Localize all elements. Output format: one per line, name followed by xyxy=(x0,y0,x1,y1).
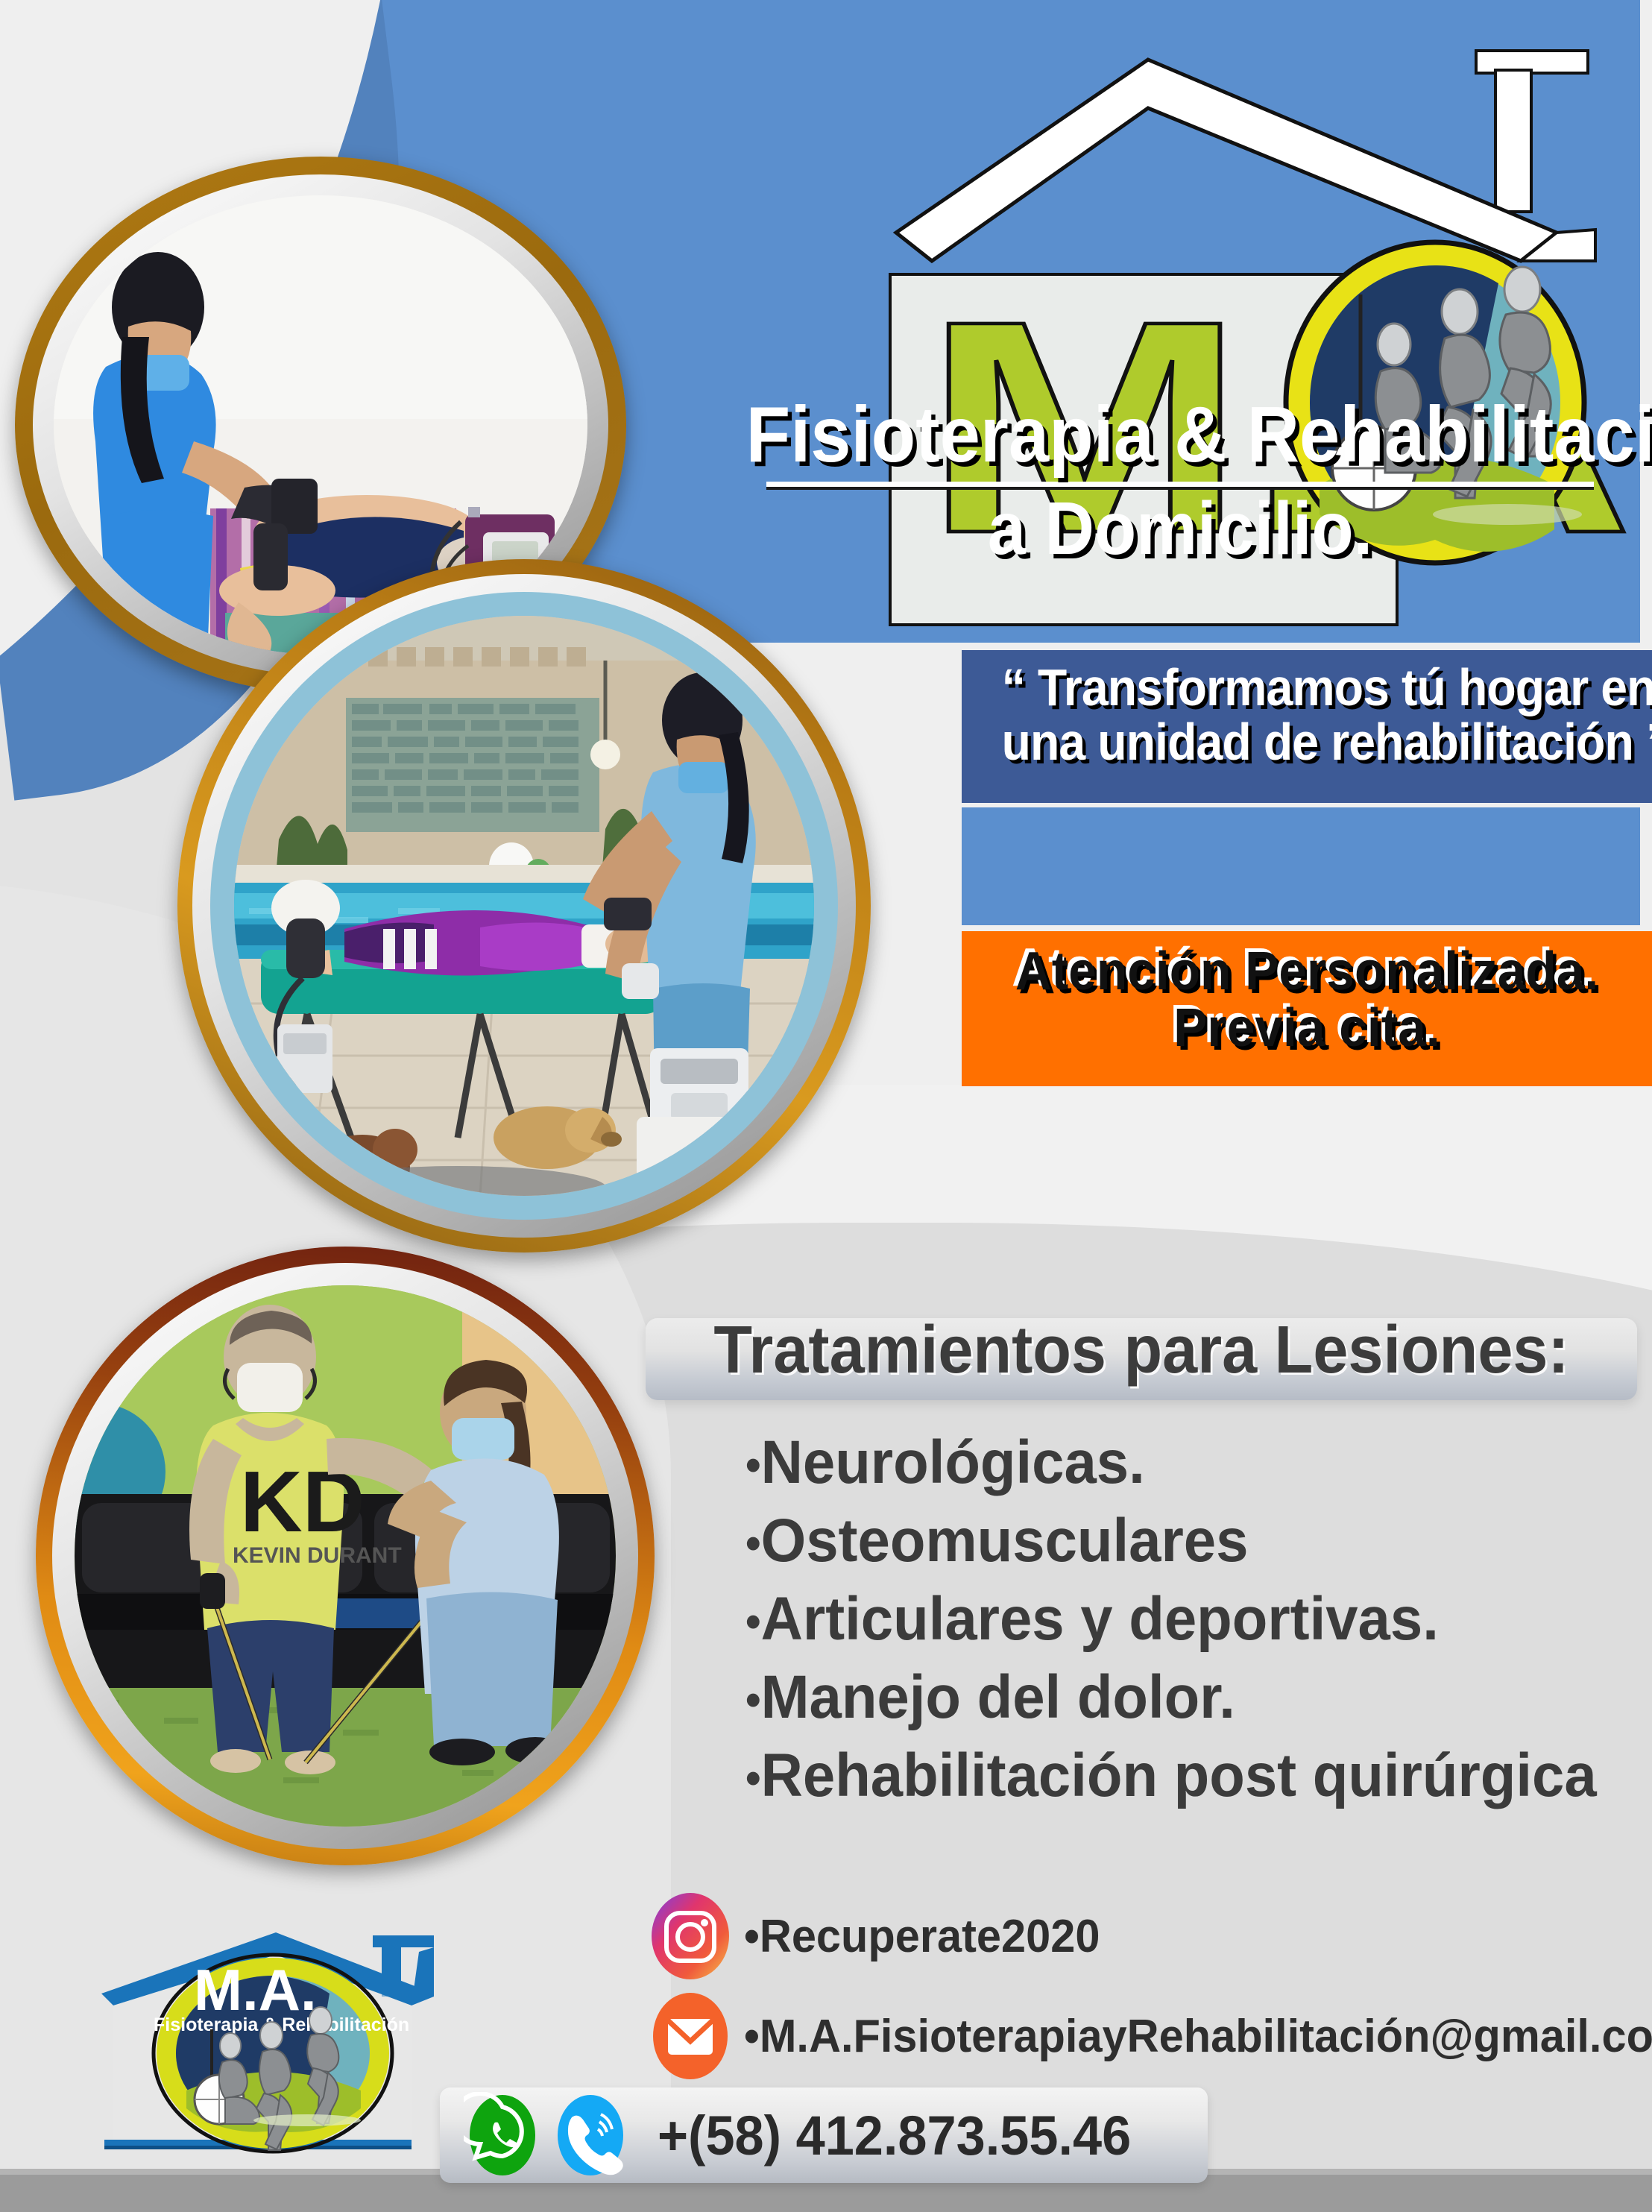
contact-email[interactable]: •M.A.FisioterapiayRehabilitación@gmail.c… xyxy=(650,1992,1652,2080)
photo-image-2 xyxy=(234,616,814,1196)
slogan-line-1: “ Transformamos tú hogar en xyxy=(1002,661,1612,715)
photo-poolside-therapy xyxy=(177,559,871,1252)
blue-panel-band xyxy=(962,807,1640,925)
list-item: •Osteomusculares xyxy=(745,1502,1603,1581)
highlight-line-1: Atención Personalizada. xyxy=(989,943,1624,1000)
list-item-label: Osteomusculares xyxy=(761,1507,1249,1575)
list-item: •Rehabilitación post quirúrgica xyxy=(745,1737,1603,1815)
bullet-icon: • xyxy=(745,1674,761,1726)
title-line-1: Fisioterapia & Rehabilitación xyxy=(746,395,1615,474)
list-item: •Neurológicas. xyxy=(745,1424,1603,1502)
flyer-page: M.A. F xyxy=(0,0,1652,2212)
title-underline xyxy=(766,482,1594,487)
highlight-box: Atención Personalizada. Previa cita. xyxy=(962,931,1652,1086)
list-item-label: Rehabilitación post quirúrgica xyxy=(761,1742,1597,1809)
slogan-line-2: una unidad de rehabilitación ”. xyxy=(1002,715,1612,769)
list-item: •Articulares y deportivas. xyxy=(745,1581,1603,1659)
treatments-list: •Neurológicas. •Osteomusculares •Articul… xyxy=(745,1424,1648,1815)
photo-resistance-band-exercise: KD KEVIN DURANT xyxy=(36,1247,655,1865)
highlight-line-2: Previa cita. xyxy=(989,1000,1624,1056)
brand-logo-top: M.A. xyxy=(880,37,1633,425)
house-roof-with-rehab-figures-oval-icon: M.A. Fisioterapia & Rehabilitación xyxy=(83,1922,501,2198)
bullet-icon: • xyxy=(745,1596,761,1648)
bullet-icon: • xyxy=(745,1753,761,1804)
bullet-icon: • xyxy=(745,1518,761,1569)
house-roof-with-rehab-figures-oval-icon: M.A. xyxy=(880,37,1633,425)
slogan-box: “ Transformamos tú hogar en una unidad d… xyxy=(962,650,1652,803)
email-envelope-icon[interactable] xyxy=(650,1992,731,2080)
treatments-heading: Tratamientos para Lesiones: xyxy=(675,1312,1607,1390)
bullet-icon: • xyxy=(745,1440,761,1491)
list-item: •Manejo del dolor. xyxy=(745,1659,1603,1737)
contact-phone-number: +(58) 412.873.55.46 xyxy=(658,2104,1131,2167)
contact-email-label: •M.A.FisioterapiayRehabilitación@gmail.c… xyxy=(744,2010,1652,2063)
contact-instagram[interactable]: •Recuperate2020 xyxy=(650,1892,1115,1980)
phone-call-icon[interactable] xyxy=(552,2092,629,2178)
logo-initials: M.A. xyxy=(194,1957,317,2023)
list-item-label: Manejo del dolor. xyxy=(761,1663,1235,1731)
title-line-2: a Domicilio. xyxy=(746,491,1615,566)
contact-phone-bar[interactable]: +(58) 412.873.55.46 xyxy=(440,2087,1208,2183)
list-item-label: Articulares y deportivas. xyxy=(761,1585,1439,1653)
brand-logo-bottom: M.A. Fisioterapia & Rehabilitación xyxy=(83,1922,501,2198)
instagram-icon[interactable] xyxy=(650,1892,731,1980)
list-item-label: Neurológicas. xyxy=(761,1428,1145,1496)
page-title: Fisioterapia & Rehabilitación a Domicili… xyxy=(708,395,1652,566)
photo-image-3: KD KEVIN DURANT xyxy=(75,1285,616,1827)
svg-text:KEVIN DURANT: KEVIN DURANT xyxy=(233,1543,402,1568)
contact-instagram-label: •Recuperate2020 xyxy=(744,1910,1100,1963)
